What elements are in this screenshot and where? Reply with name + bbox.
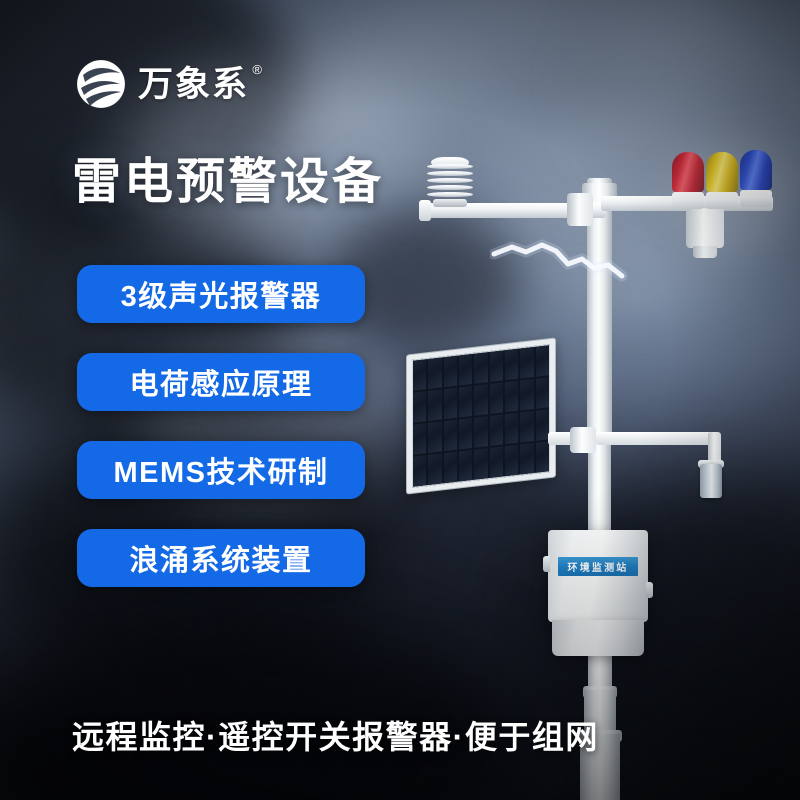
feature-pill-label: 浪涌系统装置: [129, 537, 312, 579]
feature-pill-label: 3级声光报警器: [121, 273, 322, 315]
feature-pill-label: MEMS技术研制: [113, 449, 328, 491]
brand-name: 万象系: [138, 65, 249, 104]
feature-pill-list: 3级声光报警器 电荷感应原理 MEMS技术研制 浪涌系统装置: [77, 265, 365, 587]
feature-pill[interactable]: 浪涌系统装置: [77, 529, 365, 587]
swoosh-sphere-logo-icon: [75, 58, 127, 110]
page-title: 雷电预警设备: [72, 155, 384, 210]
brand-name-wrap: 万象系 ®: [138, 67, 249, 102]
poster-canvas: 环境监测站 万象系 ® 雷电预警设备 3级声光报警器 电荷感应原理 MEMS技术…: [0, 0, 800, 800]
feature-pill[interactable]: 3级声光报警器: [77, 265, 365, 323]
feature-pill[interactable]: 电荷感应原理: [77, 353, 365, 411]
brand-logo: 万象系 ®: [75, 58, 249, 110]
footer-tagline: 远程监控·遥控开关报警器·便于组网: [72, 712, 599, 758]
feature-pill[interactable]: MEMS技术研制: [77, 441, 365, 499]
trademark-symbol: ®: [252, 63, 264, 76]
feature-pill-label: 电荷感应原理: [129, 361, 312, 403]
